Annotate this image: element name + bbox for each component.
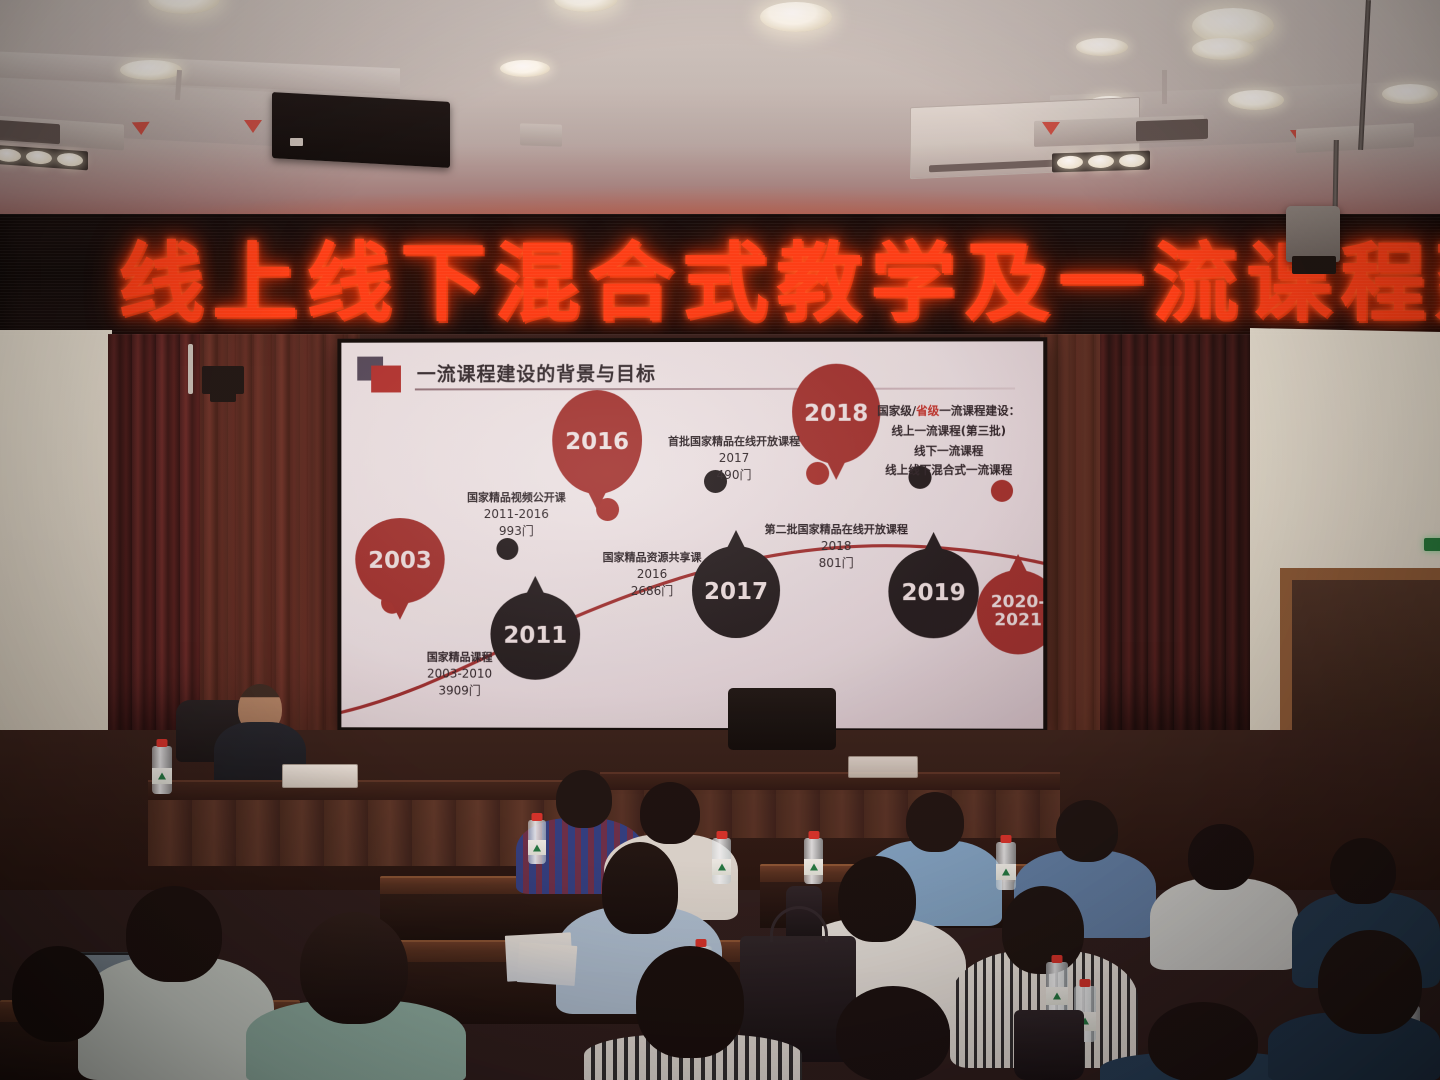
- ceiling-downlight: [500, 60, 550, 77]
- water-bottle: [528, 820, 546, 864]
- timeline-node-2020: [991, 480, 1013, 502]
- label-2016-name: 国家精品资源共享课: [562, 550, 742, 566]
- audience-head: [300, 912, 408, 1024]
- bottle-label: [996, 864, 1016, 880]
- bottle-label: [804, 859, 823, 875]
- audience-head: [1318, 930, 1422, 1034]
- audience-head: [838, 856, 916, 942]
- timeline-bubble-2016: 2016: [552, 390, 642, 494]
- lamp-bulb: [0, 148, 21, 163]
- audience-head: [1002, 886, 1084, 974]
- bottle-cap: [1080, 979, 1091, 987]
- ceiling-downlight: [1076, 38, 1128, 56]
- lamp-bulb: [57, 152, 83, 167]
- audience-head: [12, 946, 104, 1042]
- led-banner: 线上线下混合式教学及一流课程建设培训: [0, 214, 1440, 336]
- fcc-line-3: 线下一流课程: [854, 441, 1043, 461]
- ceiling-downlight: [1228, 90, 1284, 110]
- left-wall: [0, 330, 112, 730]
- audience-head: [636, 946, 744, 1058]
- bag-small: [1014, 1010, 1084, 1080]
- audience-head: [1330, 838, 1396, 904]
- label-2003-period: 2003-2010: [375, 665, 544, 683]
- bottle-cap: [1001, 835, 1012, 843]
- fire-marker-icon: [132, 122, 150, 136]
- projector-indicator-icon: [290, 138, 303, 146]
- lamp-bulb: [1088, 155, 1114, 169]
- ceiling-lamp-row: [1052, 151, 1150, 173]
- bottle-cap: [808, 831, 819, 839]
- ceiling-troffer: [520, 123, 562, 146]
- secondary-nameplate: [848, 756, 918, 778]
- label-2016-count: 2686门: [562, 583, 742, 600]
- label-milestone-2003: 国家精品课程 2003-2010 3909门: [375, 650, 544, 701]
- bottle-label: [712, 859, 731, 875]
- fcc-line1-a: 国家级/: [877, 404, 916, 418]
- label-2017-name: 首批国家精品在线开放课程: [636, 434, 832, 450]
- fcc-line-2: 线上一流课程(第三批): [854, 421, 1043, 441]
- ceiling-projector-unit: [272, 92, 450, 168]
- fcc-line-4: 线上线下混合式一流课程: [854, 461, 1043, 481]
- water-bottle: [1046, 962, 1068, 1016]
- stage-equipment-box: [728, 688, 836, 750]
- bottle-cap: [157, 739, 168, 747]
- bottle-label: [528, 840, 546, 855]
- ac-mount-stem: [1162, 70, 1167, 104]
- lamp-bulb: [1119, 154, 1145, 168]
- timeline-node-2011: [496, 538, 518, 560]
- stage-spotlight-fixture: [1286, 206, 1340, 262]
- wall-camera: [202, 366, 244, 394]
- bottle-label: [1046, 987, 1068, 1005]
- projection-screen: 一流课程建设的背景与目标 2003 2011 2016 2017 2018 20…: [341, 341, 1043, 728]
- bubble-2020-line2: 2021: [994, 612, 1042, 630]
- audience-head: [556, 770, 612, 828]
- fcc-line1-c: 一流课程建设：: [939, 404, 1020, 418]
- ceiling-troffer-recess: [1136, 119, 1208, 142]
- first-class-course-block: 国家级/省级一流课程建设： 线上一流课程(第三批) 线下一流课程 线上线下混合式…: [854, 402, 1043, 481]
- label-milestone-2018: 第二批国家精品在线开放课程 2018 801门: [730, 522, 943, 573]
- projection-screen-bezel: 一流课程建设的背景与目标 2003 2011 2016 2017 2018 20…: [337, 337, 1047, 732]
- camera-mount-arm: [188, 344, 193, 394]
- paper-handout: [517, 942, 578, 986]
- label-2003-count: 3909门: [375, 683, 544, 701]
- audience-head: [1148, 1002, 1258, 1080]
- bottle-cap: [1052, 955, 1063, 963]
- audience-head: [126, 886, 222, 982]
- fcc-line-1: 国家级/省级一流课程建设：: [854, 402, 1043, 422]
- ceiling-troffer-recess: [0, 120, 60, 145]
- audience-head: [602, 842, 678, 934]
- stage-wood-panel-right: [1040, 334, 1100, 754]
- fcc-line1-highlight: 省级: [916, 404, 939, 418]
- water-bottle: [804, 838, 823, 884]
- label-2018-period: 2018: [730, 538, 943, 555]
- label-2018-count: 801门: [730, 555, 943, 572]
- lecture-hall-photo: 线上线下混合式教学及一流课程建设培训 一流课程建设的背景与目标: [0, 0, 1440, 1080]
- audience-head: [1056, 800, 1118, 862]
- wall-camera-base: [210, 392, 236, 402]
- label-2003-name: 国家精品课程: [375, 650, 544, 666]
- ceiling-downlight: [1192, 38, 1254, 60]
- label-2011-period: 2011-2016: [427, 506, 606, 523]
- led-banner-text: 线上线下混合式教学及一流课程建设培训: [118, 214, 1440, 336]
- label-2017-period: 2017: [636, 450, 832, 468]
- fire-marker-icon: [1042, 122, 1060, 135]
- lamp-bulb: [1057, 156, 1083, 170]
- exit-sign-icon: [1424, 538, 1440, 551]
- water-bottle: [152, 746, 172, 794]
- stage-spotlight-lens: [1292, 256, 1336, 274]
- label-milestone-2017: 首批国家精品在线开放课程 2017 490门: [636, 434, 832, 485]
- ceiling-downlight: [1382, 84, 1438, 104]
- ceiling-downlight: [120, 60, 182, 80]
- audience-head: [1188, 824, 1254, 890]
- label-2018-name: 第二批国家精品在线开放课程: [730, 522, 943, 538]
- bottle-label: [152, 768, 172, 784]
- ceiling-downlight: [760, 2, 832, 32]
- bottle-cap: [716, 831, 727, 839]
- label-milestone-2016: 国家精品资源共享课 2016 2686门: [562, 550, 742, 601]
- label-milestone-2011: 国家精品视频公开课 2011-2016 993门: [427, 490, 606, 541]
- audience-body: [1150, 878, 1298, 970]
- fire-marker-icon: [244, 120, 262, 133]
- audience-head: [836, 986, 950, 1080]
- water-bottle: [996, 842, 1016, 890]
- bottle-cap: [532, 813, 543, 821]
- audience-head: [906, 792, 964, 852]
- label-2011-count: 993门: [427, 523, 606, 540]
- label-2011-name: 国家精品视频公开课: [427, 490, 606, 506]
- label-2017-count: 490门: [636, 467, 832, 485]
- presenter-nameplate: [282, 764, 358, 788]
- lamp-bulb: [26, 150, 52, 165]
- water-bottle: [712, 838, 731, 884]
- audience-head: [640, 782, 700, 844]
- label-2016-period: 2016: [562, 566, 742, 583]
